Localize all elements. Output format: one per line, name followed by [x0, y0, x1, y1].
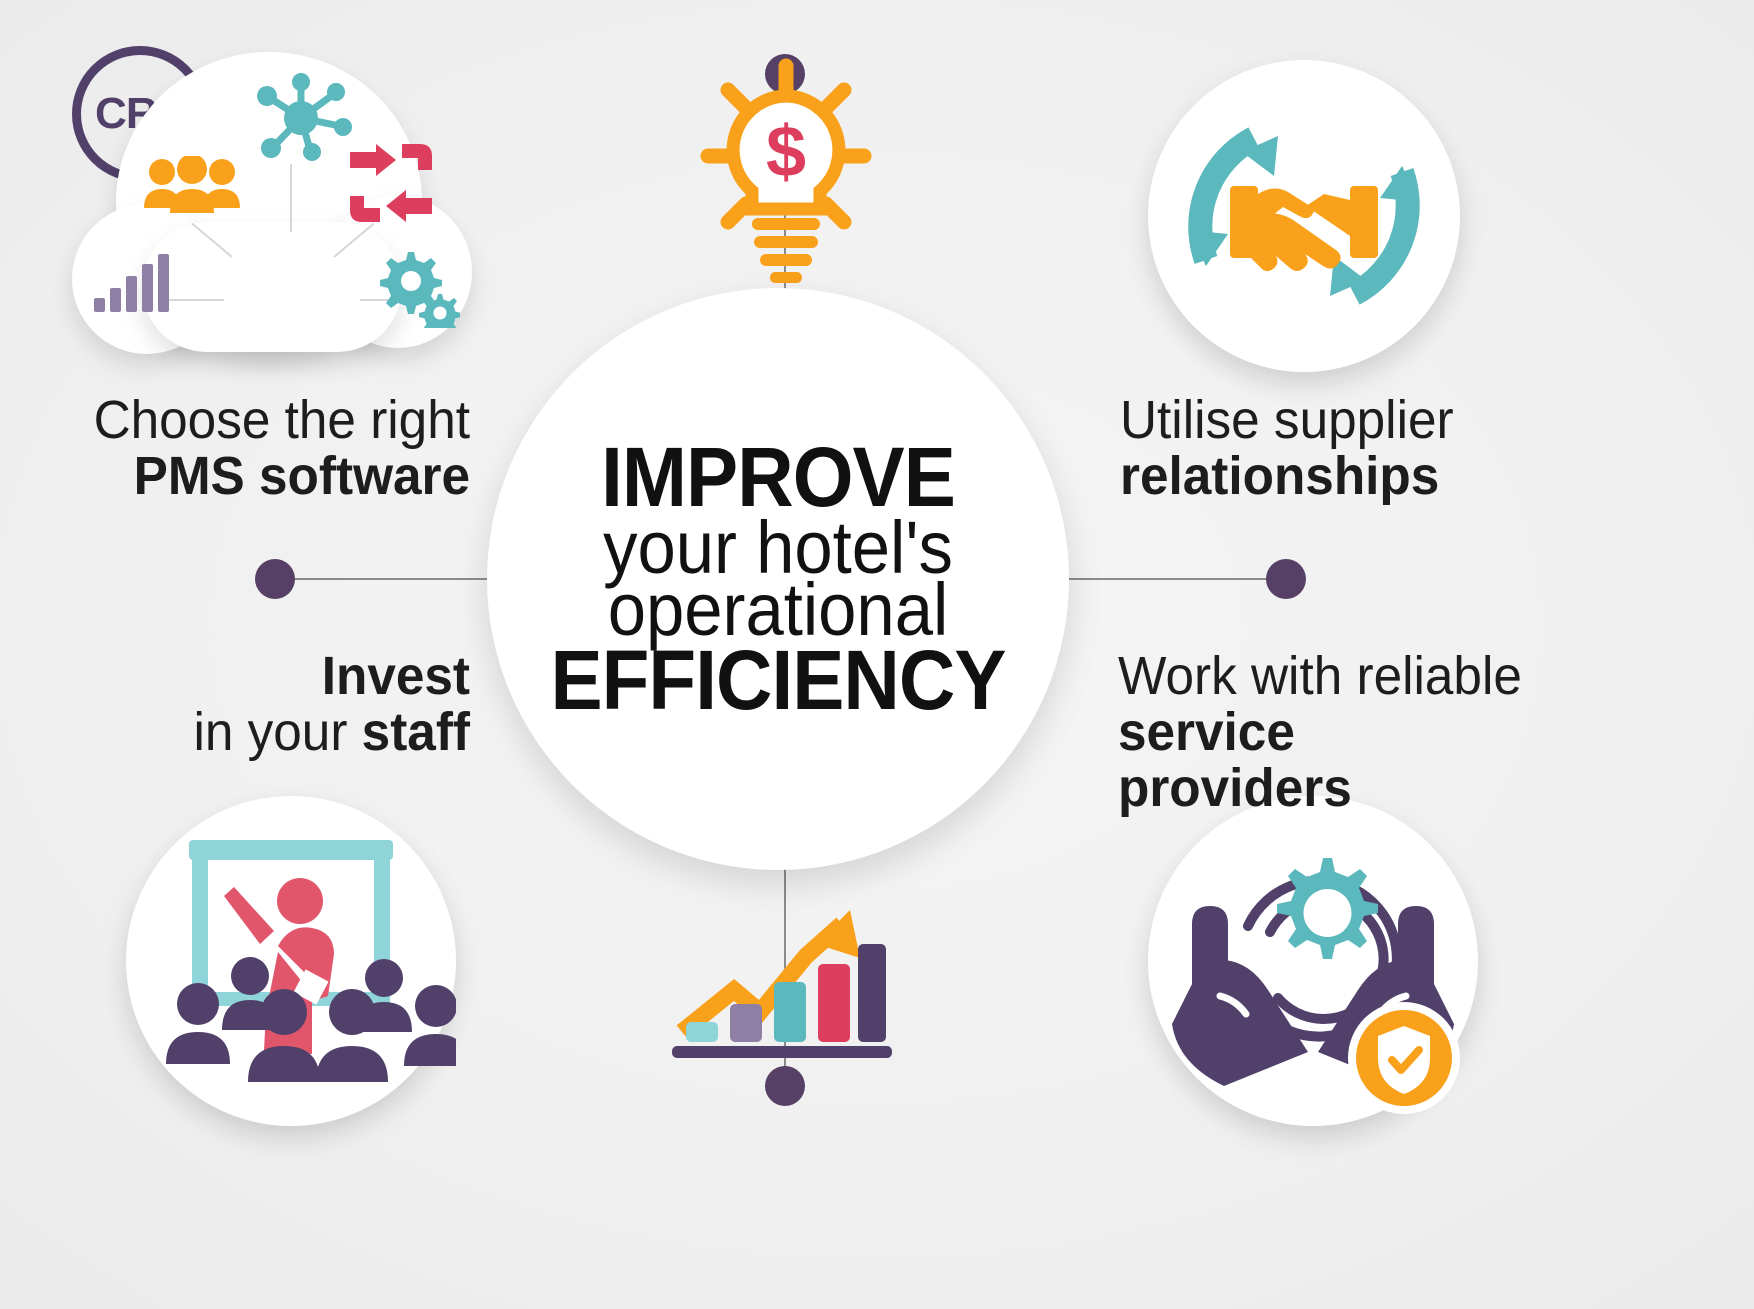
signal-bar-1 — [94, 298, 105, 312]
center-line-4: EFFICIENCY — [536, 640, 1020, 721]
label-pms-bold: PMS software — [90, 448, 470, 504]
cloud-blob-bottom — [142, 222, 402, 352]
connector-dot-left — [255, 559, 295, 599]
handshake-cycle-icon — [1148, 60, 1460, 372]
handshake-cycle-disc — [1148, 60, 1460, 372]
network-node-icon — [248, 72, 354, 164]
center-text-block: IMPROVE your hotel's operational EFFICIE… — [518, 437, 1038, 721]
label-service-providers: Work with reliable service providers — [1118, 648, 1548, 816]
label-service-thin: Work with reliable — [1118, 648, 1527, 704]
svg-text:$: $ — [766, 112, 806, 192]
signal-bar-3 — [126, 276, 137, 312]
cloud-spoke-left — [160, 299, 224, 301]
connector-dot-bottom — [765, 1066, 805, 1106]
signal-bars-icon — [94, 254, 168, 312]
label-supplier-relationships: Utilise supplier relationships — [1120, 392, 1540, 504]
cloud-spoke-up — [290, 164, 292, 232]
label-pms-software: Choose the right PMS software — [70, 392, 470, 504]
label-invest-thin: in your — [193, 702, 361, 762]
growth-bar-4 — [818, 964, 850, 1042]
growth-bar-2 — [730, 1004, 762, 1042]
label-invest-staff-bold: staff — [362, 702, 470, 762]
people-group-icon — [144, 156, 240, 216]
signal-bar-2 — [110, 288, 121, 312]
label-supplier-bold: relationships — [1120, 448, 1519, 504]
connector-dot-right — [1266, 559, 1306, 599]
growth-baseline — [672, 1046, 892, 1058]
lightbulb-dollar-icon: $ — [690, 48, 882, 288]
growth-bar-1 — [686, 1022, 718, 1042]
label-invest-staff: Invest in your staff — [70, 648, 470, 760]
service-providers-disc — [1148, 796, 1478, 1126]
center-circle: IMPROVE your hotel's operational EFFICIE… — [487, 288, 1069, 870]
label-invest-line2: in your staff — [90, 704, 470, 760]
infographic-canvas: IMPROVE your hotel's operational EFFICIE… — [0, 0, 1754, 1309]
staff-training-icon — [126, 796, 456, 1126]
label-invest-bold: Invest — [90, 648, 470, 704]
pms-cloud-icon: CRS — [72, 46, 472, 376]
label-supplier-thin: Utilise supplier — [1120, 392, 1519, 448]
signal-bar-4 — [142, 264, 153, 312]
exchange-arrows-icon — [350, 144, 432, 222]
staff-training-disc — [126, 796, 456, 1126]
hands-gear-shield-icon — [1148, 796, 1478, 1126]
growth-chart-icon — [672, 900, 892, 1070]
gears-icon — [372, 250, 460, 328]
growth-bar-3 — [774, 982, 806, 1042]
label-service-bold: service providers — [1118, 704, 1527, 816]
signal-bar-5 — [158, 254, 169, 312]
label-pms-thin: Choose the right — [90, 392, 470, 448]
growth-bar-5 — [858, 944, 886, 1042]
